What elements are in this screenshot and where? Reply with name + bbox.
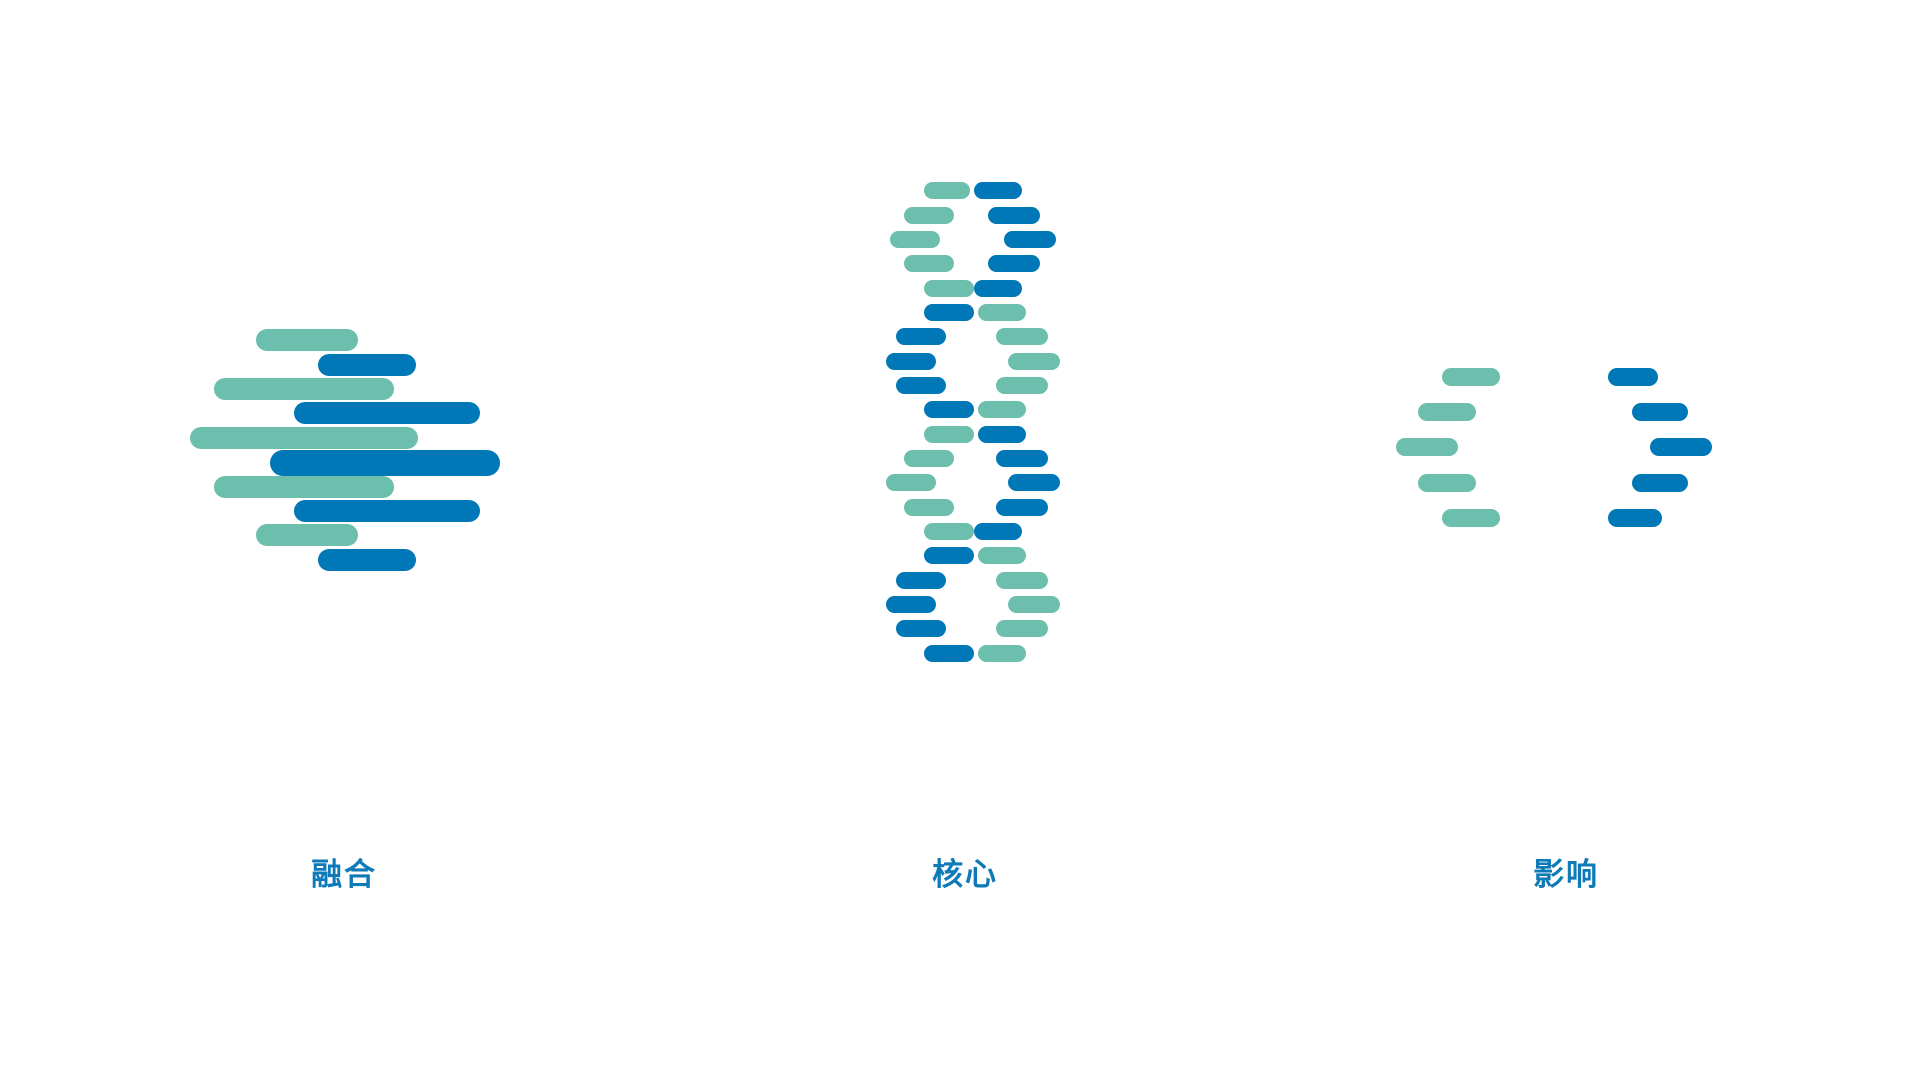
glyph-bar [1650, 438, 1712, 456]
glyph-bar [1396, 438, 1458, 456]
glyph-bar [1632, 403, 1688, 421]
glyph-bar [1608, 509, 1662, 527]
glyph-impact [1396, 368, 1716, 528]
panel-label-impact: 影响 [606, 849, 1920, 894]
illustration-canvas: 融合核心影响 [0, 0, 1920, 1080]
concept-panel-impact: 影响 [0, 0, 1920, 1080]
glyph-bar [1608, 368, 1658, 386]
glyph-bar [1442, 368, 1500, 386]
glyph-bar [1418, 403, 1476, 421]
glyph-bar [1418, 474, 1476, 492]
glyph-bar [1632, 474, 1688, 492]
glyph-bar [1442, 509, 1500, 527]
